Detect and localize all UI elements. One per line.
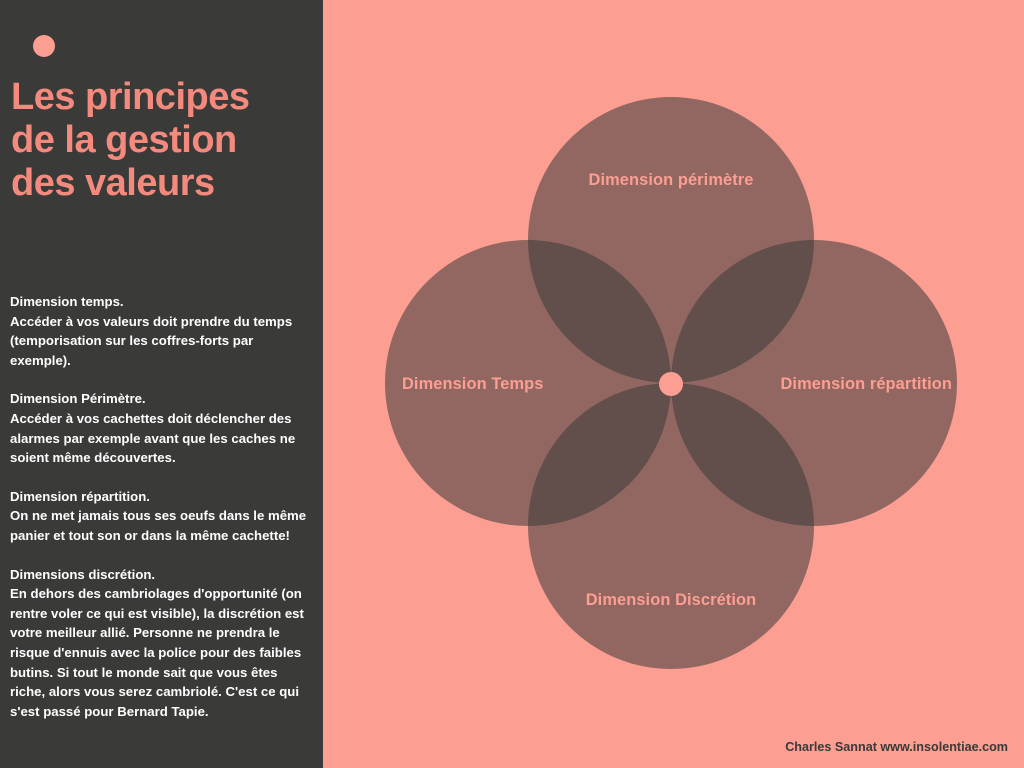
footer-credit: Charles Sannat www.insolentiae.com (785, 740, 1008, 754)
paragraph-heading: Dimensions discrétion. (10, 565, 315, 585)
paragraph-body: Accéder à vos cachettes doit déclencher … (10, 411, 295, 465)
sidebar-body-text: Dimension temps. Accéder à vos valeurs d… (10, 292, 315, 721)
paragraph-heading: Dimension temps. (10, 292, 315, 312)
paragraph-body: On ne met jamais tous ses oeufs dans le … (10, 508, 306, 543)
page-title-line-1: Les principes (11, 76, 316, 119)
page-title: Les principes de la gestion des valeurs (11, 76, 316, 205)
page-title-line-2: de la gestion (11, 119, 316, 162)
paragraph-dimension-discretion: Dimensions discrétion. En dehors des cam… (10, 565, 315, 722)
paragraph-dimension-perimetre: Dimension Périmètre. Accéder à vos cache… (10, 389, 315, 467)
venn-diagram: Dimension périmètre Dimension Temps Dime… (385, 97, 957, 669)
paragraph-dimension-temps: Dimension temps. Accéder à vos valeurs d… (10, 292, 315, 370)
sidebar-panel: Les principes de la gestion des valeurs … (0, 0, 323, 768)
paragraph-body: Accéder à vos valeurs doit prendre du te… (10, 314, 292, 368)
page-title-line-3: des valeurs (11, 162, 316, 205)
paragraph-heading: Dimension Périmètre. (10, 389, 315, 409)
infographic-canvas: Les principes de la gestion des valeurs … (0, 0, 1024, 768)
venn-label-discretion: Dimension Discrétion (385, 591, 957, 610)
paragraph-heading: Dimension répartition. (10, 487, 315, 507)
paragraph-dimension-repartition: Dimension répartition. On ne met jamais … (10, 487, 315, 546)
paragraph-body: En dehors des cambriolages d'opportunité… (10, 586, 304, 719)
venn-center-dot-icon (659, 372, 683, 396)
venn-label-perimetre: Dimension périmètre (385, 171, 957, 190)
venn-label-temps: Dimension Temps (402, 375, 543, 394)
venn-circle-bottom (528, 383, 814, 669)
venn-label-repartition: Dimension répartition (781, 375, 953, 394)
bullet-dot-icon (33, 35, 55, 57)
